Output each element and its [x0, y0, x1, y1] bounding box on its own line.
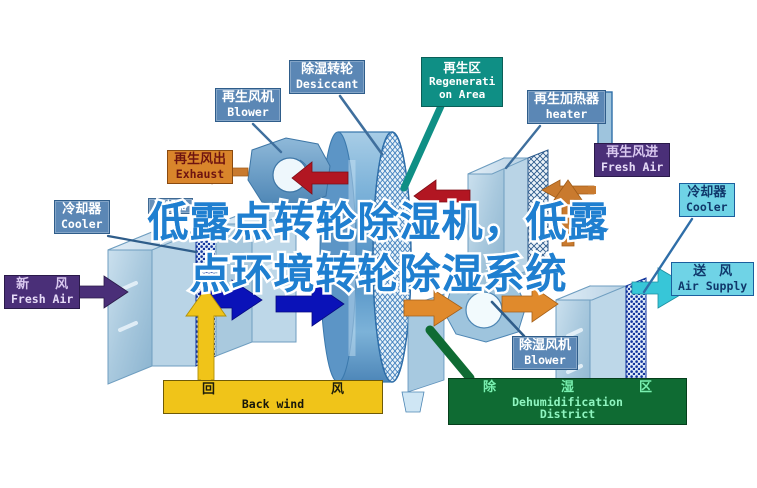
regeneration-area-label-en1: Regenerati	[429, 76, 495, 89]
exhaust-label-cn: 再生风出	[174, 153, 226, 168]
desiccant-wheel-label-cn: 除湿转轮	[296, 63, 358, 78]
air-supply-label-cn: 送 风	[678, 265, 747, 280]
dehumidification-district-label-cn: 除 湿 区	[457, 381, 678, 396]
cooler-right-label-en: Cooler	[686, 201, 728, 214]
diagram-canvas: 再生风机 Blower 除湿转轮 Desiccant 再生区 Regenerat…	[0, 0, 757, 488]
exhaust-label-en: Exhaust	[174, 168, 226, 181]
regeneration-heater	[468, 150, 548, 294]
desiccant-wheel-label: 除湿转轮 Desiccant	[289, 60, 365, 94]
regeneration-area-label-cn: 再生区	[429, 61, 495, 76]
cooler-left-label: 冷却器 Cooler	[54, 200, 110, 234]
dehumidification-blower-label: 除湿风机 Blower	[512, 336, 578, 370]
fresh-air-inlet-label-en: Fresh Air	[11, 293, 73, 306]
fresh-air-inlet-label-cn: 新 风	[11, 278, 73, 293]
cooler-right-label-cn: 冷却器	[686, 186, 728, 201]
regeneration-heater-label: 再生加热器 heater	[527, 90, 606, 124]
regeneration-blower-label-en: Blower	[222, 106, 274, 119]
exhaust-label: 再生风出 Exhaust	[167, 150, 233, 184]
regeneration-heater-label-cn: 再生加热器	[534, 93, 599, 108]
fresh-air-inlet-label: 新 风 Fresh Air	[4, 275, 80, 309]
desiccant-wheel-label-en: Desiccant	[296, 78, 358, 91]
regeneration-heater-label-en: heater	[534, 108, 599, 121]
air-supply-label: 送 风 Air Supply	[671, 262, 754, 296]
dehumidification-blower-label-en: Blower	[519, 354, 571, 367]
regeneration-area-label: 再生区 Regenerati on Area	[421, 57, 503, 107]
cooler-secondary-label-cn: 冷却器	[154, 200, 187, 212]
back-wind-label-cn: 回 风	[172, 383, 374, 398]
back-wind-label-en: Back wind	[172, 398, 374, 411]
regen-post-heater-arrow	[414, 180, 470, 212]
process-plenum	[216, 210, 296, 356]
dehumidification-blower-label-cn: 除湿风机	[519, 339, 571, 354]
back-wind-label: 回 风 Back wind	[163, 380, 383, 414]
regeneration-blower-label-cn: 再生风机	[222, 91, 274, 106]
dehumidification-district-label-en2: District	[457, 408, 678, 421]
regeneration-fresh-air-label-en: Fresh Air	[601, 161, 663, 174]
cooler-left-label-cn: 冷却器	[61, 203, 103, 218]
regeneration-fresh-air-label: 再生风进 Fresh Air	[594, 143, 670, 177]
dehumidification-district-label: 除 湿 区 Dehumidification District	[448, 378, 687, 425]
regeneration-fresh-air-label-cn: 再生风进	[601, 146, 663, 161]
regeneration-area-label-en2: on Area	[429, 89, 495, 102]
air-supply-label-en: Air Supply	[678, 280, 747, 293]
cooler-left-label-en: Cooler	[61, 218, 103, 231]
regeneration-blower-label: 再生风机 Blower	[215, 88, 281, 122]
desiccant-rotor	[320, 132, 411, 382]
cooler-secondary-label: 冷却器	[148, 198, 193, 214]
cooler-right-label: 冷却器 Cooler	[679, 183, 735, 217]
